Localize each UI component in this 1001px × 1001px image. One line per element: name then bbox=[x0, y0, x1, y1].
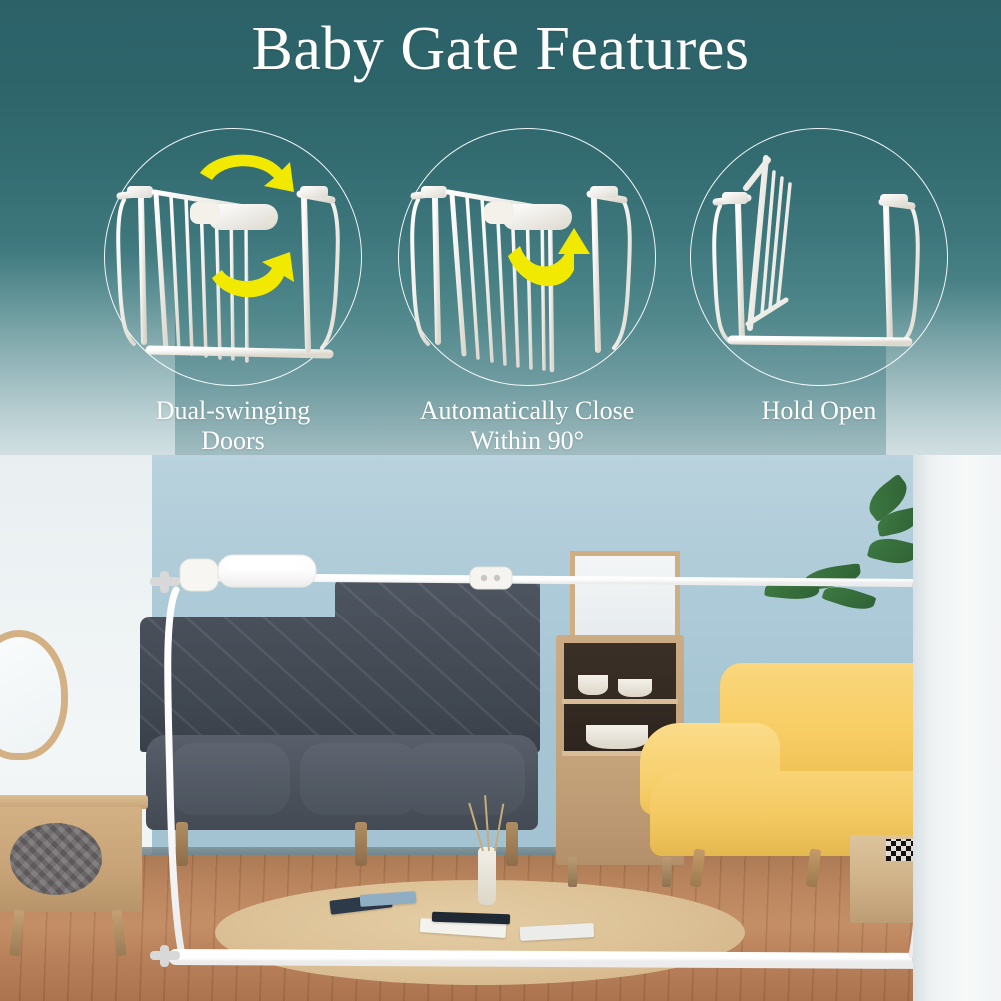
product-feature-graphic: Baby Gate Features bbox=[0, 0, 1001, 1001]
feature-label-automatically-close: Automatically Close Within 90° bbox=[368, 396, 686, 456]
feature-label-dual-swinging-doors: Dual-swinging Doors bbox=[74, 396, 392, 456]
baby-gate-auto-close-swing-icon bbox=[398, 128, 656, 386]
feature-circle-dual-swinging-doors bbox=[104, 128, 362, 386]
feature-label-line1: Automatically Close bbox=[368, 396, 686, 426]
baby-gate-two-direction-swing-icon bbox=[104, 128, 362, 386]
feature-circle-automatically-close bbox=[398, 128, 656, 386]
feature-circles-row bbox=[0, 128, 1001, 398]
feature-labels-row: Dual-swinging Doors Automatically Close … bbox=[0, 396, 1001, 460]
page-title: Baby Gate Features bbox=[0, 12, 1001, 86]
installed-baby-gate bbox=[0, 455, 1001, 1001]
feature-label-line2: Doors bbox=[74, 426, 392, 456]
feature-label-line1: Dual-swinging bbox=[74, 396, 392, 426]
feature-label-line1: Hold Open bbox=[660, 396, 978, 426]
feature-label-hold-open: Hold Open bbox=[660, 396, 978, 426]
baby-gate-held-open-icon bbox=[690, 128, 948, 386]
right-white-wall bbox=[913, 455, 1001, 1001]
feature-label-line2: Within 90° bbox=[368, 426, 686, 456]
feature-circle-hold-open bbox=[690, 128, 948, 386]
